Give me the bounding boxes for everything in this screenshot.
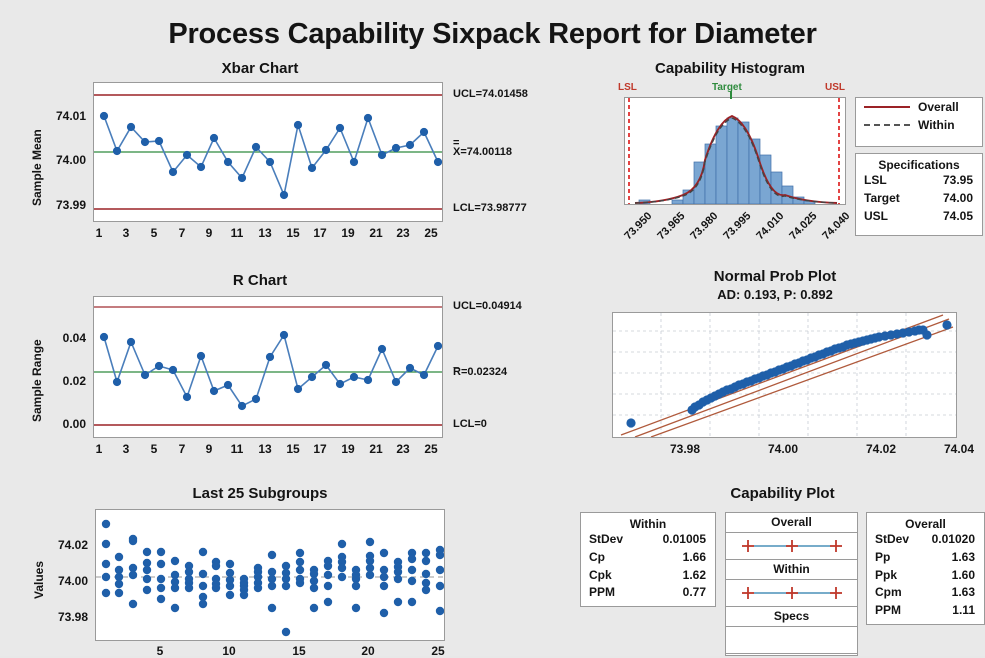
xbar-ytick-2: 73.99 [38,198,86,212]
r-chart-xtick-11: 23 [393,442,413,456]
overall-label-stdev: StDev [875,532,909,548]
within-value-ppm: 0.77 [683,585,706,601]
spec-row-usl: USL 74.05 [856,208,982,226]
overall-label-ppm: PPM [875,603,901,619]
within-line-swatch-icon [864,124,910,126]
histogram-target-tick [730,91,732,99]
legend-label-overall: Overall [918,100,959,114]
xbar-ytick-0: 74.01 [38,109,86,123]
xbar-xtick-0: 1 [89,226,109,240]
r-chart-ytick-1: 0.02 [38,374,86,388]
within-stats-header: Within [581,513,715,531]
xbar-xtick-11: 23 [393,226,413,240]
spec-label-usl: USL [864,209,888,225]
histogram-title: Capability Histogram [610,60,850,77]
xbar-xtick-6: 13 [255,226,275,240]
r-chart-xtick-1: 3 [116,442,136,456]
xbar-lcl-annotation: LCL=73.98777 [453,202,527,215]
r-chart-xtick-0: 1 [89,442,109,456]
overall-value-cpm: 1.63 [952,585,975,601]
r-chart-xtick-4: 9 [199,442,219,456]
strip-label-specs: Specs [726,607,857,627]
prob-plot-xtick-0: 73.98 [662,442,708,456]
histogram-lsl-marker: LSL [618,82,637,94]
overall-label-pp: Pp [875,550,890,566]
r-chart-ytick-0: 0.04 [38,331,86,345]
r-chart-xtick-8: 17 [310,442,330,456]
within-row-stdev: StDev 0.01005 [581,531,715,549]
r-chart-xtick-10: 21 [366,442,386,456]
overall-value-stdev: 0.01020 [932,532,975,548]
xbar-xtick-3: 7 [172,226,192,240]
capability-plot-panel: Capability Plot Within StDev 0.01005 Cp … [580,485,985,656]
specifications-table: Specifications LSL 73.95 Target 74.00 US… [855,153,983,236]
spec-value-lsl: 73.95 [943,173,973,189]
within-row-cp: Cp 1.66 [581,549,715,567]
r-chart-plot-area [93,296,443,438]
legend-row-within: Within [856,116,982,134]
r-chart-xtick-3: 7 [172,442,192,456]
within-stats-table: Within StDev 0.01005 Cp 1.66 Cpk 1.62 PP… [580,512,716,607]
strip-label-overall: Overall [726,513,857,533]
within-label-ppm: PPM [589,585,615,601]
capability-interval-strips: Overall Within [725,512,858,656]
overall-row-pp: Pp 1.63 [867,549,984,567]
xbar-xtick-4: 9 [199,226,219,240]
r-chart-y-axis-label: Sample Range [30,306,44,422]
strip-interval-overall [726,533,857,560]
spec-label-lsl: LSL [864,173,887,189]
capability-plot-title: Capability Plot [580,485,985,502]
xbar-plot-area [93,82,443,222]
normal-prob-plot-panel: Normal Prob Plot AD: 0.193, P: 0.892 [610,268,985,478]
histogram-target-marker: Target [712,82,742,94]
spec-row-lsl: LSL 73.95 [856,172,982,190]
r-chart-xtick-9: 19 [338,442,358,456]
r-chart-lcl-annotation: LCL=0 [453,418,487,431]
r-chart-center-label: R=0.02324 [453,366,507,378]
within-value-cpk: 1.62 [683,568,706,584]
overall-row-stdev: StDev 0.01020 [867,531,984,549]
overall-row-cpm: Cpm 1.63 [867,584,984,602]
r-chart-xtick-7: 15 [283,442,303,456]
page-title: Process Capability Sixpack Report for Di… [0,18,985,51]
xbar-xtick-9: 19 [338,226,358,240]
within-label-stdev: StDev [589,532,623,548]
r-chart-title: R Chart [60,272,460,289]
last-25-subgroups-panel: Last 25 Subgroups Values 74.02 74.00 73.… [60,485,580,656]
subgroups-ytick-2: 73.98 [40,610,88,624]
xbar-xtick-8: 17 [310,226,330,240]
histogram-legend-box: Overall Within [855,97,983,147]
spec-value-target: 74.00 [943,191,973,207]
overall-stats-table: Overall StDev 0.01020 Pp 1.63 Ppk 1.60 C… [866,512,985,625]
xbar-xtick-12: 25 [421,226,441,240]
overall-row-ppm: PPM 1.11 [867,602,984,620]
histogram-usl-marker: USL [825,82,845,94]
legend-row-overall: Overall [856,98,982,116]
overall-row-ppk: Ppk 1.60 [867,567,984,585]
strip-interval-specs [726,627,857,654]
within-label-cp: Cp [589,550,605,566]
histogram-plot-area [624,97,846,205]
subgroups-ytick-1: 74.00 [40,574,88,588]
within-value-stdev: 0.01005 [663,532,706,548]
legend-label-within: Within [918,118,955,132]
r-chart-xtick-12: 25 [421,442,441,456]
r-chart-center-annotation: _ R=0.02324 [453,360,507,379]
prob-plot-subtitle: AD: 0.193, P: 0.892 [610,287,940,302]
xbar-chart-panel: Xbar Chart Sample Mean 74.01 74.00 73.99 [60,60,580,260]
prob-plot-xtick-2: 74.02 [858,442,904,456]
prob-plot-area [612,312,957,438]
strip-interval-within [726,580,857,607]
strip-label-within: Within [726,560,857,580]
r-chart-xtick-2: 5 [144,442,164,456]
overall-label-ppk: Ppk [875,568,897,584]
r-chart-ytick-2: 0.00 [38,417,86,431]
specifications-header: Specifications [856,154,982,172]
subgroups-title: Last 25 Subgroups [60,485,460,502]
overall-value-ppm: 1.11 [952,603,975,619]
overall-line-swatch-icon [864,106,910,108]
xbar-ucl-annotation: UCL=74.01458 [453,88,528,101]
within-row-ppm: PPM 0.77 [581,584,715,602]
spec-row-target: Target 74.00 [856,190,982,208]
xbar-xtick-7: 15 [283,226,303,240]
capability-histogram-panel: Capability Histogram LSL Target USL [610,60,985,260]
overall-value-ppk: 1.60 [952,568,975,584]
xbar-xtick-2: 5 [144,226,164,240]
subgroups-ytick-0: 74.02 [40,538,88,552]
prob-plot-xtick-1: 74.00 [760,442,806,456]
r-chart-xtick-6: 13 [255,442,275,456]
xbar-chart-title: Xbar Chart [60,60,460,77]
overall-stats-header: Overall [867,513,984,531]
within-value-cp: 1.66 [683,550,706,566]
prob-plot-xtick-3: 74.04 [936,442,982,456]
sixpack-report: Process Capability Sixpack Report for Di… [0,0,985,656]
overall-value-pp: 1.63 [952,550,975,566]
within-row-cpk: Cpk 1.62 [581,567,715,585]
r-chart-panel: R Chart Sample Range 0.04 0.02 0.00 [60,272,580,472]
within-label-cpk: Cpk [589,568,612,584]
overall-label-cpm: Cpm [875,585,902,601]
xbar-xtick-1: 3 [116,226,136,240]
xbar-center-annotation: = X=74.00118 [453,140,512,159]
xbar-xtick-10: 21 [366,226,386,240]
xbar-xtick-5: 11 [227,226,247,240]
spec-value-usl: 74.05 [943,209,973,225]
xbar-center-label: X=74.00118 [453,146,512,158]
subgroups-plot-area [95,509,445,641]
r-chart-ucl-annotation: UCL=0.04914 [453,300,522,313]
spec-label-target: Target [864,191,900,207]
xbar-ytick-1: 74.00 [38,153,86,167]
prob-plot-title: Normal Prob Plot [610,268,940,285]
r-chart-xtick-5: 11 [227,442,247,456]
